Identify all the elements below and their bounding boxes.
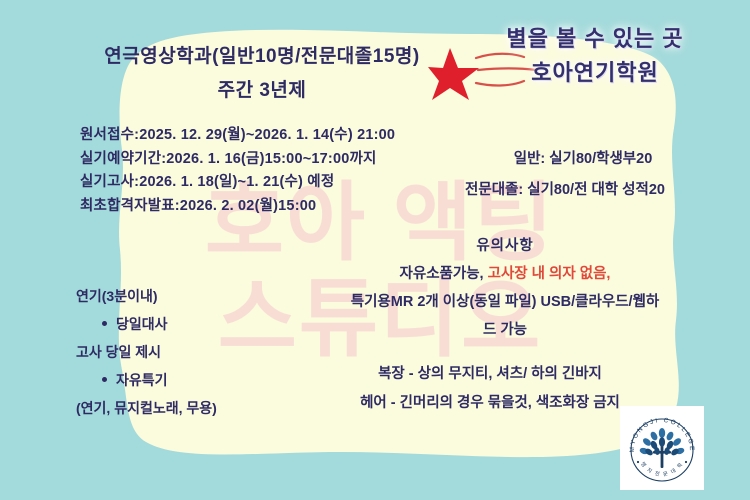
dresscode-clothing: 복장 - 상의 무지티, 셔츠/ 하의 긴바지 xyxy=(290,360,690,389)
bullet-dot-icon xyxy=(102,377,107,382)
notes-no-chair-text: 고사장 내 의자 없음, xyxy=(488,266,611,282)
scoring-general: 일반: 실기80/학생부20 xyxy=(400,144,730,175)
notes-props-text: 자유소품가능, xyxy=(400,266,484,282)
audition-bullet-2-row: 자유특기 xyxy=(76,366,316,394)
audition-bullet-2: 자유특기 xyxy=(116,372,168,388)
course-title: 연극영상학과(일반10명/전문대졸15명) 주간 3년제 xyxy=(62,40,462,108)
myongji-college-logo-icon: MYONGJI COLLEGE 명 지 전 문 대 학 xyxy=(620,406,704,490)
college-logo-badge: MYONGJI COLLEGE 명 지 전 문 대 학 xyxy=(620,406,704,490)
notes-block: 유의사항 자유소품가능, 고사장 내 의자 없음, 특기용MR 2개 이상(동일… xyxy=(295,232,715,344)
academy-slogan: 별을 볼 수 있는 곳 xyxy=(470,22,720,56)
scoring-college-graduate: 전문대졸: 실기80/전 대학 성적20 xyxy=(400,175,730,206)
schedule-line-application: 원서접수:2025. 12. 29(월)~2026. 1. 14(수) 21:0… xyxy=(80,124,440,148)
academy-branding: 별을 볼 수 있는 곳 호아연기학원 xyxy=(470,22,720,90)
notes-props-row: 자유소품가능, 고사장 내 의자 없음, xyxy=(295,260,715,288)
schedule-line-reservation: 실기예약기간:2026. 1. 16(금)15:00~17:00까지 xyxy=(80,148,440,172)
schedule-line-results: 최초합격자발표:2026. 2. 02(월)15:00 xyxy=(80,195,440,219)
poster-canvas: 호아 액팅 스튜디오 연극영상학과(일반10명/전문대졸15명) 주간 3년제 … xyxy=(0,0,750,500)
course-title-line-2: 주간 3년제 xyxy=(62,74,462,108)
academy-name: 호아연기학원 xyxy=(470,56,720,90)
notes-mr-line-cont: 드 가능 xyxy=(295,316,715,344)
audition-block: 연기(3분이내) 당일대사 고사 당일 제시 자유특기 (연기, 뮤지컬노래, … xyxy=(76,282,316,422)
audition-bullet-1-row: 당일대사 xyxy=(76,310,316,338)
notes-heading: 유의사항 xyxy=(295,232,715,260)
audition-acting-header: 연기(3분이내) xyxy=(76,282,316,310)
schedule-line-exam: 실기고사:2026. 1. 18(일)~1. 21(수) 예정 xyxy=(80,171,440,195)
bullet-dot-icon xyxy=(102,321,107,326)
audition-bullet-1: 당일대사 xyxy=(116,316,168,332)
course-title-line-1: 연극영상학과(일반10명/전문대졸15명) xyxy=(62,40,462,74)
schedule-block: 원서접수:2025. 12. 29(월)~2026. 1. 14(수) 21:0… xyxy=(80,124,440,218)
notes-mr-line: 특기용MR 2개 이상(동일 파일) USB/클라우드/웹하 xyxy=(295,288,715,316)
audition-note-2: (연기, 뮤지컬노래, 무용) xyxy=(76,394,316,422)
audition-note-1: 고사 당일 제시 xyxy=(76,338,316,366)
scoring-block: 일반: 실기80/학생부20 전문대졸: 실기80/전 대학 성적20 xyxy=(400,144,730,206)
